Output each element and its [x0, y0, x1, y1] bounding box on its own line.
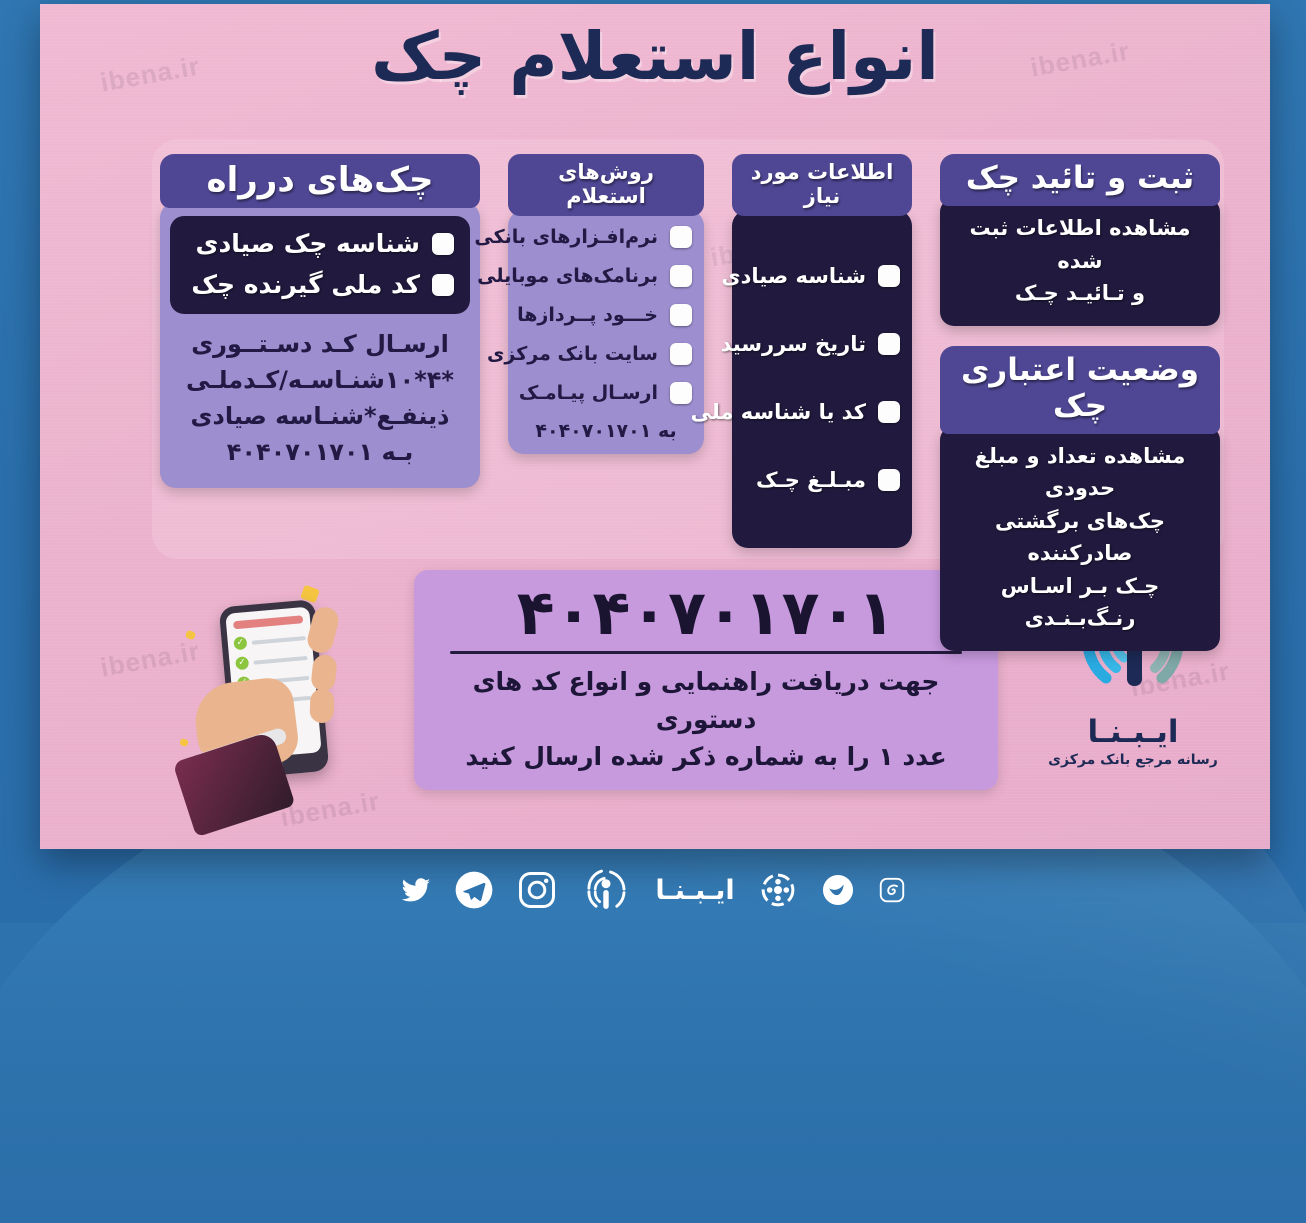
- column-checks-in-transit: چک‌های درراه شناسه چک صیادی کد ملی گیرند…: [160, 154, 480, 488]
- list-item[interactable]: تاریخ سررسید: [744, 332, 900, 356]
- column-inquiry-methods: روش‌های استعلام نرم‌افـزارهای بانکی برنا…: [508, 154, 704, 454]
- list-item[interactable]: کد ملی گیرنده چک: [186, 270, 454, 299]
- hand-holding-phone-illustration: ✓ ✓ ✓ ✓: [190, 589, 380, 824]
- ussd-instruction-note: ارسـال کـد دسـتــوری *۴*۱۰شنـاسـه/کـدملـ…: [160, 324, 480, 476]
- card-check-registration: ثبت و تائید چک مشاهده اطلاعات ثبت شده و …: [940, 154, 1220, 326]
- checks-in-transit-item-list: شناسه چک صیادی کد ملی گیرنده چک: [170, 216, 470, 314]
- twitter-icon[interactable]: [399, 873, 433, 907]
- list-item[interactable]: شناسه چک صیادی: [186, 229, 454, 258]
- banner-line: جهت دریافت راهنمایی و انواع کد های دستور…: [432, 663, 980, 738]
- ibena-logo-subtitle: رسانه مرجع بانک مرکزی: [1040, 752, 1226, 768]
- sms-destination-number: به ۴۰۴۰۷۰۱۷۰۱: [508, 408, 704, 444]
- required-information-list: شناسه صیادی تاریخ سررسید کد یا شناسه ملی: [732, 260, 912, 496]
- banner-instructions: جهت دریافت راهنمایی و انواع کد های دستور…: [432, 663, 980, 776]
- card-header-check-credit-status: وضعیت اعتباری چک: [940, 346, 1220, 434]
- checkbox-icon[interactable]: [878, 265, 900, 287]
- list-item[interactable]: نرم‌افـزارهای بانکی: [520, 226, 692, 248]
- poster-card: ibena.ir ibena.ir ibena.ir ibena.ir iben…: [40, 4, 1270, 849]
- divider: [450, 651, 962, 654]
- note-line: *۴*۱۰شنـاسـه/کـدملـی: [174, 362, 466, 398]
- checkbox-icon[interactable]: [878, 401, 900, 423]
- bale-icon[interactable]: [819, 871, 857, 909]
- column-body-inquiry-methods: نرم‌افـزارهای بانکی برنامک‌های موبایلی خ…: [508, 210, 704, 454]
- list-item[interactable]: کد یا شناسه ملی: [744, 400, 900, 424]
- checkbox-icon[interactable]: [670, 304, 692, 326]
- checkbox-icon[interactable]: [670, 382, 692, 404]
- list-item-label: کد یا شناسه ملی: [691, 400, 866, 424]
- screen-checklist-item: ✓: [235, 651, 308, 670]
- checkbox-icon[interactable]: [670, 265, 692, 287]
- list-item[interactable]: مبـلـغ چـک: [744, 468, 900, 492]
- column-header-checks-in-transit: چک‌های درراه: [160, 154, 480, 208]
- check-icon: ✓: [235, 656, 249, 670]
- outer-blue-frame: ibena.ir ibena.ir ibena.ir ibena.ir iben…: [0, 0, 1306, 923]
- card-check-credit-status: وضعیت اعتباری چک مشاهده تعداد و مبلغ حدو…: [940, 346, 1220, 651]
- finger: [309, 689, 334, 724]
- checkbox-icon[interactable]: [670, 343, 692, 365]
- page-title: انواع استعلام چک: [40, 20, 1270, 94]
- screen-checklist-item: ✓: [233, 631, 306, 650]
- checkbox-icon[interactable]: [432, 233, 454, 255]
- note-line: ارسـال کـد دسـتــوری: [174, 326, 466, 362]
- checkbox-icon[interactable]: [432, 274, 454, 296]
- ibena-logo-icon[interactable]: [579, 863, 633, 917]
- column-header-inquiry-methods: روش‌های استعلام: [508, 154, 704, 216]
- telegram-icon[interactable]: [453, 869, 495, 911]
- watermark: ibena.ir: [98, 636, 202, 684]
- column-header-required-information: اطلاعات مورد نیاز: [732, 154, 912, 216]
- list-item[interactable]: برنامک‌های موبایلی: [520, 265, 692, 287]
- column-body-required-information: شناسه صیادی تاریخ سررسید کد یا شناسه ملی: [732, 210, 912, 548]
- list-item[interactable]: خـــود پــردازها: [520, 304, 692, 326]
- eitaa-icon[interactable]: [877, 875, 907, 905]
- list-item[interactable]: سایت بانک مرکزی: [520, 343, 692, 365]
- list-item-label: خـــود پــردازها: [517, 304, 658, 326]
- note-line: بـه ۴۰۴۰۷۰۱۷۰۱: [174, 434, 466, 470]
- list-item[interactable]: ارسـال پیـامـک: [520, 382, 692, 404]
- finger: [310, 654, 338, 692]
- card-body-line: مشاهده تعداد و مبلغ حدودی: [956, 440, 1204, 505]
- column-body-checks-in-transit: شناسه چک صیادی کد ملی گیرنده چک ارسـال ک…: [160, 202, 480, 488]
- sms-number-banner: ۴۰۴۰۷۰۱۷۰۱ جهت دریافت راهنمایی و انواع ک…: [414, 570, 998, 790]
- ibena-logo-name: ایـبـنـا: [1040, 714, 1226, 750]
- list-item-label: کد ملی گیرنده چک: [191, 270, 420, 299]
- sparkle-icon: [179, 738, 189, 747]
- social-links-bar: ایـبـنـا: [0, 863, 1306, 917]
- text-line: [252, 636, 306, 645]
- list-item-label: نرم‌افـزارهای بانکی: [474, 226, 658, 248]
- columns-container: چک‌های درراه شناسه چک صیادی کد ملی گیرند…: [160, 154, 1220, 544]
- banner-line: عدد ۱ را به شماره ذکر شده ارسال کنید: [432, 738, 980, 776]
- list-item[interactable]: شناسه صیادی: [744, 264, 900, 288]
- ibena-footer-label: ایـبـنـا: [655, 875, 734, 906]
- screen-title-bar: [233, 615, 303, 629]
- note-line: ذینفـع*شنـاسه صیادی: [174, 398, 466, 434]
- checkbox-icon[interactable]: [878, 469, 900, 491]
- inquiry-methods-list: نرم‌افـزارهای بانکی برنامک‌های موبایلی خ…: [508, 224, 704, 408]
- card-body-check-registration: مشاهده اطلاعات ثبت شده و تـائیـد چـک: [940, 198, 1220, 326]
- checkbox-icon[interactable]: [670, 226, 692, 248]
- text-line: [253, 655, 307, 664]
- list-item-label: سایت بانک مرکزی: [487, 343, 658, 365]
- list-item-label: ارسـال پیـامـک: [519, 382, 658, 404]
- list-item-label: شناسه صیادی: [721, 264, 866, 288]
- list-item-label: مبـلـغ چـک: [756, 468, 866, 492]
- instagram-icon[interactable]: [515, 868, 559, 912]
- check-icon: ✓: [233, 636, 247, 650]
- column-required-information: اطلاعات مورد نیاز شناسه صیادی تاریخ سررس…: [732, 154, 912, 548]
- list-item-label: تاریخ سررسید: [721, 332, 866, 356]
- card-body-line: چک‌های برگشتی صادرکننده: [956, 505, 1204, 570]
- aparat-icon[interactable]: [757, 869, 799, 911]
- sparkle-icon: [185, 630, 196, 641]
- sms-number: ۴۰۴۰۷۰۱۷۰۱: [432, 580, 980, 645]
- card-body-check-credit-status: مشاهده تعداد و مبلغ حدودی چک‌های برگشتی …: [940, 426, 1220, 651]
- card-body-line: مشاهده اطلاعات ثبت شده: [956, 212, 1204, 277]
- column-check-status-cards: ثبت و تائید چک مشاهده اطلاعات ثبت شده و …: [940, 154, 1220, 651]
- list-item-label: برنامک‌های موبایلی: [477, 265, 658, 287]
- card-body-line: چـک بـر اسـاس رنـگ‌بـنـدی: [956, 570, 1204, 635]
- card-body-line: و تـائیـد چـک: [956, 277, 1204, 310]
- list-item-label: شناسه چک صیادی: [196, 229, 420, 258]
- checkbox-icon[interactable]: [878, 333, 900, 355]
- card-header-check-registration: ثبت و تائید چک: [940, 154, 1220, 206]
